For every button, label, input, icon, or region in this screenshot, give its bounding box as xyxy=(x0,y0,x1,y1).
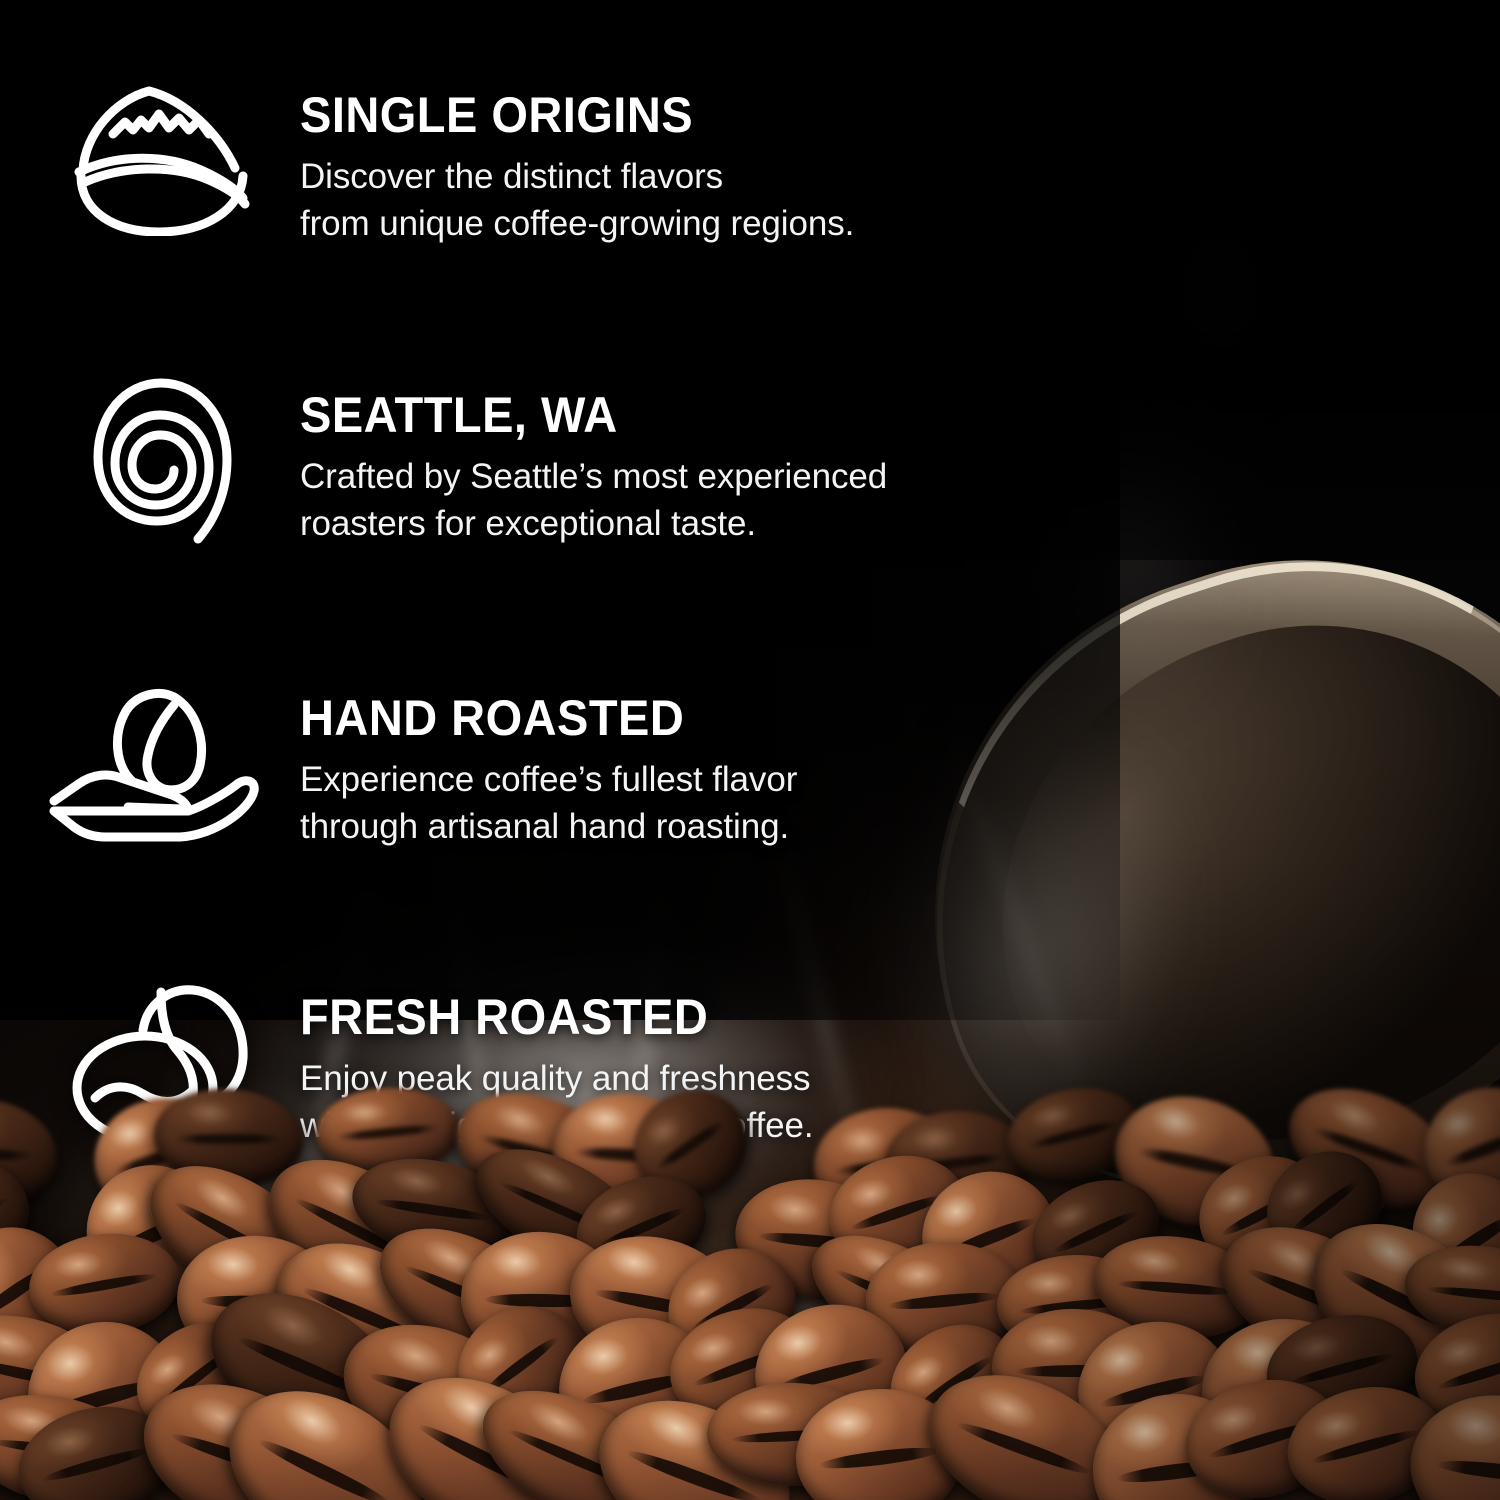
feature-description: Experience coffee’s fullest flavor throu… xyxy=(300,757,797,850)
feature-title: HAND ROASTED xyxy=(300,693,767,743)
feature-title: SEATTLE, WA xyxy=(300,390,852,440)
feature-item-single-origins: SINGLE ORIGINS Discover the distinct fla… xyxy=(62,80,854,247)
feature-text-block: HAND ROASTED Experience coffee’s fullest… xyxy=(300,685,797,850)
product-feature-banner: SINGLE ORIGINS Discover the distinct fla… xyxy=(0,0,1500,1500)
hand-holding-bean-icon xyxy=(40,685,262,845)
feature-description: Crafted by Seattle’s most experienced ro… xyxy=(300,454,887,547)
feature-text-block: SEATTLE, WA Crafted by Seattle’s most ex… xyxy=(300,380,887,547)
feature-title: FRESH ROASTED xyxy=(300,992,783,1042)
feature-description: Discover the distinct flavors from uniqu… xyxy=(300,154,854,247)
feature-text-block: SINGLE ORIGINS Discover the distinct fla… xyxy=(300,80,854,247)
feature-item-hand-roasted: HAND ROASTED Experience coffee’s fullest… xyxy=(40,685,797,850)
feature-item-seattle-wa: SEATTLE, WA Crafted by Seattle’s most ex… xyxy=(62,380,887,547)
mountain-coffee-bean-icon xyxy=(62,80,262,240)
feature-title: SINGLE ORIGINS xyxy=(300,90,821,140)
fingerprint-icon xyxy=(62,380,262,540)
